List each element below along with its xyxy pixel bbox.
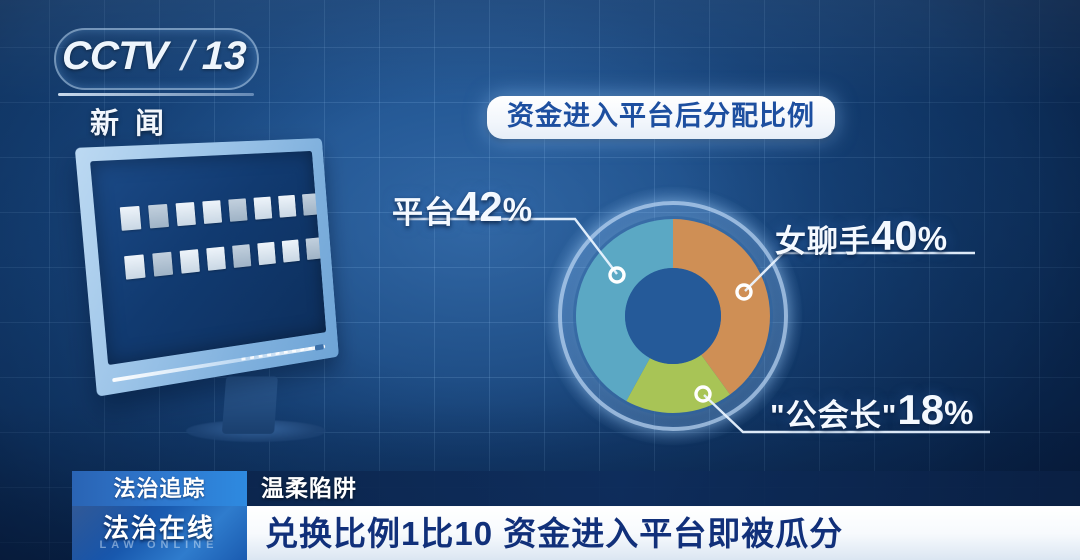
screen-cell-row-1 [120, 193, 320, 231]
callout-label-platform: 平台42% [392, 183, 532, 232]
screen-cell [176, 202, 196, 226]
column-tag-banner: 法治追踪 [72, 471, 247, 506]
callout-value-guild: 18 [897, 386, 944, 433]
callout-name-guild: "公会长" [770, 398, 897, 433]
topic-text: 温柔陷阱 [261, 471, 357, 506]
cctv-underline-bar [58, 93, 254, 96]
screen-cell [254, 197, 273, 220]
computer-monitor-illustration [78, 148, 408, 433]
lower-third-brand-block: 法治追踪 法治在线 LAW ONLINE [72, 471, 247, 560]
cctv-channel-number: 13 [201, 34, 247, 79]
screen-cell [148, 204, 169, 229]
column-tag-text: 法治追踪 [72, 471, 247, 506]
callout-percent-sign-female: % [918, 220, 947, 257]
screen-cell [306, 237, 324, 260]
screen-cell [206, 247, 226, 271]
screen-cell [120, 206, 142, 231]
screen-cell-row-2 [124, 233, 326, 280]
screen-cell [282, 239, 300, 262]
channel-subtitle: 新闻 [90, 100, 180, 142]
lower-third: 法治追踪 法治在线 LAW ONLINE 温柔陷阱 兑换比例1比10 资金进入平… [72, 471, 1080, 560]
screen-cell [257, 242, 276, 265]
callout-percent-sign-platform: % [503, 191, 532, 228]
monitor-dot-strip [241, 346, 313, 360]
headline-banner: 兑换比例1比10 资金进入平台即被瓜分 [247, 506, 1080, 560]
screen-cell [228, 198, 247, 221]
screen-cell [180, 249, 200, 274]
graphic-title-pill: 资金进入平台后分配比例 [487, 96, 835, 139]
cctv-wordmark: CCTV [61, 34, 167, 79]
program-name-en-text: LAW ONLINE [79, 539, 239, 551]
screen-cell [152, 252, 173, 277]
channel-logo-lockup: CCTV / 13 新闻 [62, 36, 232, 90]
screen-cell [202, 200, 222, 224]
screen-cell [232, 244, 251, 268]
topic-banner: 温柔陷阱 [247, 471, 1080, 506]
screen-cell [278, 195, 296, 218]
callout-name-platform: 平台 [392, 195, 456, 230]
callout-percent-sign-guild: % [944, 394, 973, 431]
channel-logo: CCTV / 13 新闻 [62, 36, 262, 136]
graphic-title-text: 资金进入平台后分配比例 [507, 101, 815, 132]
monitor-power-button [315, 344, 324, 351]
screen-cell [302, 193, 320, 215]
monitor-body [75, 138, 339, 397]
headline-text: 兑换比例1比10 资金进入平台即被瓜分 [265, 507, 843, 560]
tv-news-graphic-frame: CCTV / 13 新闻 资金进入平台后分配比例 [0, 0, 1080, 560]
monitor-screen [90, 151, 326, 365]
callout-label-female: 女聊手40% [775, 212, 947, 261]
callout-value-female: 40 [871, 212, 918, 259]
program-logo-banner: 法治在线 LAW ONLINE [72, 506, 247, 560]
callout-value-platform: 42 [456, 183, 503, 230]
callout-label-guild: "公会长"18% [770, 386, 973, 435]
screen-cell [124, 254, 145, 279]
monitor-stand [222, 376, 278, 433]
callout-name-female: 女聊手 [775, 224, 871, 259]
